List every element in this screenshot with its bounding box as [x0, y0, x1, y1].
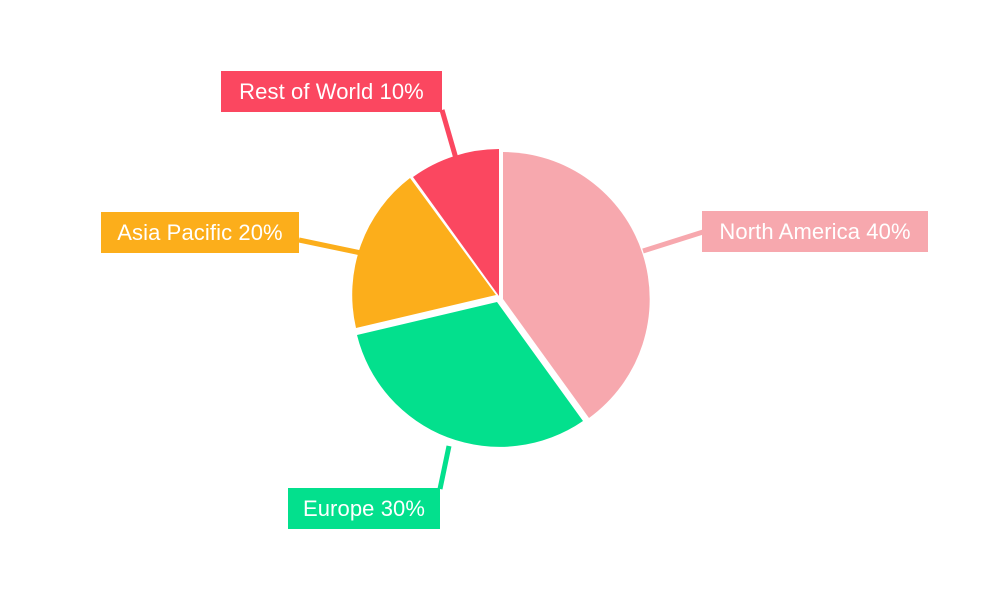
- leader-line-europe: [440, 446, 449, 489]
- pie-label-asia-pacific[interactable]: Asia Pacific 20%: [101, 212, 299, 253]
- pie-chart: North America 40% Europe 30% Asia Pacifi…: [0, 0, 1000, 600]
- pie-chart-canvas: [0, 0, 1000, 600]
- pie-label-europe[interactable]: Europe 30%: [288, 488, 440, 529]
- pie-label-north-america[interactable]: North America 40%: [702, 211, 928, 252]
- leader-line-asia-pacific: [299, 240, 361, 253]
- leader-line-north-america: [643, 232, 703, 251]
- pie-label-rest-of-world[interactable]: Rest of World 10%: [221, 71, 442, 112]
- leader-line-rest-of-world: [442, 110, 457, 162]
- pie-slices: [352, 149, 649, 447]
